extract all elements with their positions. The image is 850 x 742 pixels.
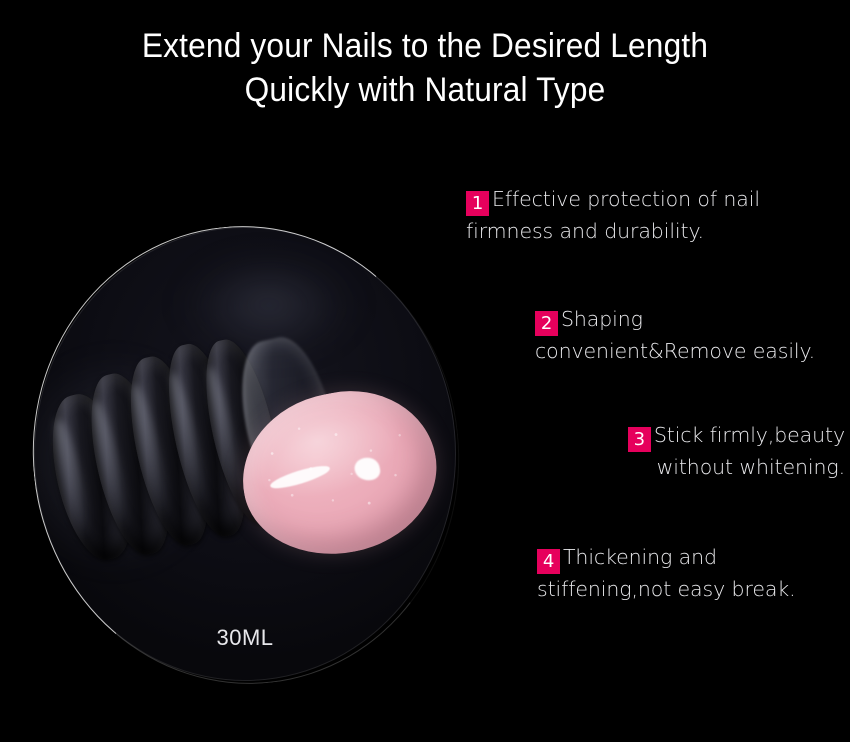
feature-number-badge: 1 <box>466 191 489 216</box>
feature-item: 4Thickening and stiffening,not easy brea… <box>537 542 845 605</box>
feature-number-badge: 2 <box>535 311 558 336</box>
page-title-line-2: Quickly with Natural Type <box>30 68 821 112</box>
feature-number-badge: 4 <box>537 549 560 574</box>
page-title-line-1: Extend your Nails to the Desired Length <box>30 24 821 68</box>
page-title: Extend your Nails to the Desired Length … <box>30 24 821 112</box>
feature-text: Stick firmly,beauty without whitening. <box>654 423 845 479</box>
promo-banner: Extend your Nails to the Desired Length … <box>0 0 850 742</box>
feature-text: Thickening and stiffening,not easy break… <box>537 545 796 601</box>
feature-item: 3Stick firmly,beauty without whitening. <box>563 420 845 483</box>
feature-item: 1Effective protection of nail firmness a… <box>466 184 844 247</box>
feature-text: Effective protection of nail firmness an… <box>466 187 760 243</box>
volume-label: 30ML <box>34 625 456 651</box>
feature-item: 2Shaping convenient&Remove easily. <box>535 304 845 367</box>
feature-text: Shaping convenient&Remove easily. <box>535 307 815 363</box>
feature-number-badge: 3 <box>628 427 651 452</box>
